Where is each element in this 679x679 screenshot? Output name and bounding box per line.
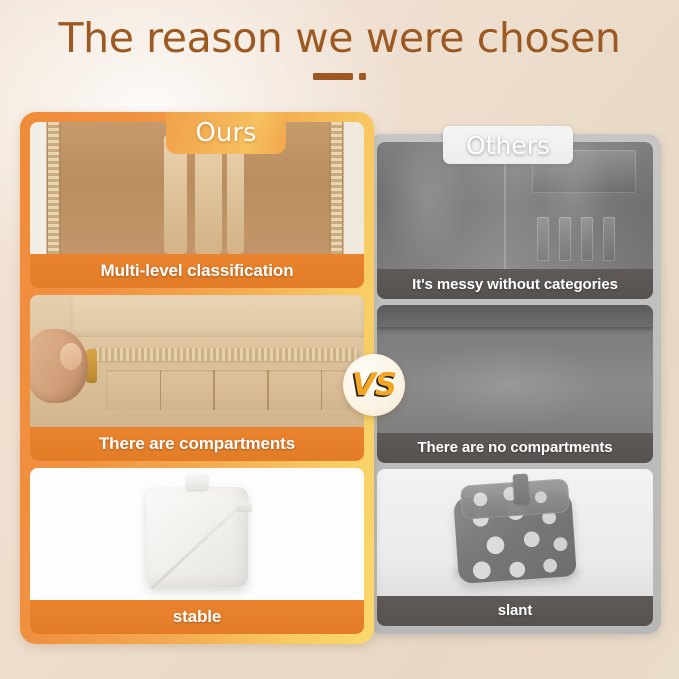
slot-graphic: [559, 217, 571, 261]
header: The reason we were chosen: [0, 0, 679, 80]
hand-holding-bag-zipper-slots-photo: [30, 295, 364, 427]
ours-caption-3: stable: [30, 600, 364, 634]
left-zipper-graphic: [48, 122, 59, 254]
others-row-2: There are no compartments: [377, 305, 653, 462]
others-panel: It's messy without categories There are …: [369, 134, 661, 634]
hand-graphic: [30, 329, 88, 403]
bag-handle-graphic: [512, 474, 529, 505]
slot-graphic: [581, 217, 593, 261]
others-caption-1: It's messy without categories: [377, 269, 653, 299]
gold-zipper-graphic: [90, 348, 358, 361]
ours-row-3: stable: [30, 468, 364, 634]
ours-row-2: There are compartments: [30, 295, 364, 461]
white-square-bag-upright-photo: [30, 468, 364, 600]
others-tab-badge: Others: [443, 126, 573, 164]
divider-dot: [359, 73, 366, 80]
vs-label: VS: [352, 367, 396, 403]
others-caption-2: There are no compartments: [377, 433, 653, 463]
ours-tab-label: Ours: [195, 118, 256, 148]
slot-graphic: [603, 217, 615, 261]
page-title: The reason we were chosen: [0, 14, 679, 62]
ours-tab-badge: Ours: [166, 112, 286, 154]
compartment-slots-graphic: [106, 370, 350, 410]
ours-panel: Multi-level classification There are com…: [20, 112, 374, 644]
bag-top-band-graphic: [70, 295, 364, 337]
empty-gray-bag-interior-photo: [377, 305, 653, 432]
bag-lip-graphic: [377, 305, 653, 327]
zipper-pull-graphic: [236, 503, 252, 512]
divider-bar: [313, 73, 353, 80]
others-caption-3: slant: [377, 596, 653, 626]
title-divider-ornament: [281, 73, 399, 80]
comparison-section: Multi-level classification There are com…: [0, 108, 679, 668]
vs-badge: VS: [343, 354, 405, 416]
white-bag-body-graphic: [146, 487, 248, 587]
ours-caption-1: Multi-level classification: [30, 254, 364, 288]
diagonal-zipper-graphic: [150, 496, 250, 589]
gray-polka-dot-bag-slanting-photo: [377, 469, 653, 596]
others-tab-label: Others: [466, 131, 550, 160]
others-row-1: It's messy without categories: [377, 142, 653, 299]
right-zipper-graphic: [331, 122, 342, 254]
slot-graphic: [537, 217, 549, 261]
others-row-3: slant: [377, 469, 653, 626]
ours-caption-2: There are compartments: [30, 427, 364, 461]
